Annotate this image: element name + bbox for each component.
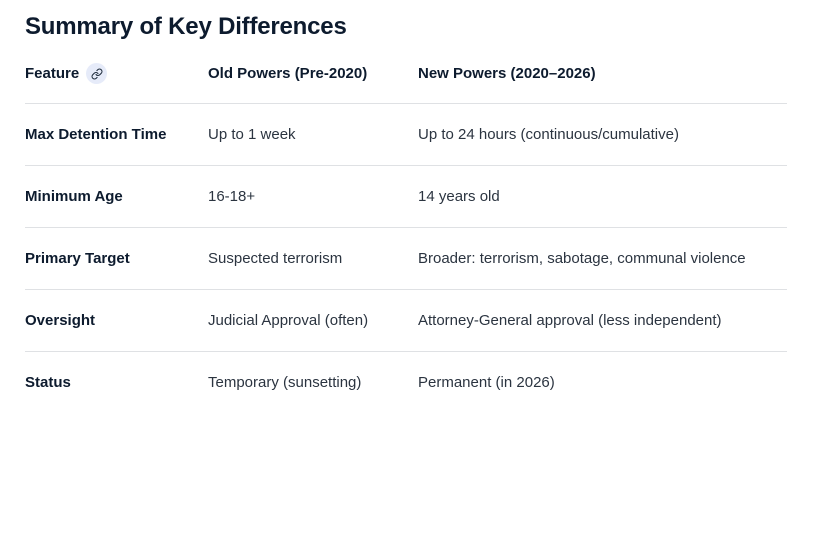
column-header-feature-label: Feature [25,62,79,85]
comparison-table: Feature Old Powers (Pre-2020) New Powers… [25,62,787,413]
table-row: Max Detention Time Up to 1 week Up to 24… [25,104,787,166]
cell-old-oversight: Judicial Approval (often) [208,290,418,352]
cell-new-status: Permanent (in 2026) [418,352,787,414]
column-header-feature: Feature [25,62,208,104]
table-row: Primary Target Suspected terrorism Broad… [25,228,787,290]
column-header-new-powers: New Powers (2020–2026) [418,62,787,104]
cell-old-max-detention-time: Up to 1 week [208,104,418,166]
cell-new-max-detention-time: Up to 24 hours (continuous/cumulative) [418,104,787,166]
cell-new-primary-target: Broader: terrorism, sabotage, communal v… [418,228,787,290]
table-row: Oversight Judicial Approval (often) Atto… [25,290,787,352]
cell-old-primary-target: Suspected terrorism [208,228,418,290]
cell-new-oversight: Attorney-General approval (less independ… [418,290,787,352]
cell-old-minimum-age: 16-18+ [208,166,418,228]
table-body: Max Detention Time Up to 1 week Up to 24… [25,104,787,414]
row-label-max-detention-time: Max Detention Time [25,104,208,166]
row-label-minimum-age: Minimum Age [25,166,208,228]
column-header-old-powers: Old Powers (Pre-2020) [208,62,418,104]
table-row: Minimum Age 16-18+ 14 years old [25,166,787,228]
row-label-primary-target: Primary Target [25,228,208,290]
row-label-status: Status [25,352,208,414]
page-title: Summary of Key Differences [25,12,347,42]
document-page: Summary of Key Differences Feature [0,0,815,542]
table-row: Status Temporary (sunsetting) Permanent … [25,352,787,414]
cell-old-status: Temporary (sunsetting) [208,352,418,414]
link-icon[interactable] [86,63,107,84]
cell-new-minimum-age: 14 years old [418,166,787,228]
feature-header-group: Feature [25,62,107,85]
table-header: Feature Old Powers (Pre-2020) New Powers… [25,62,787,104]
row-label-oversight: Oversight [25,290,208,352]
table-header-row: Feature Old Powers (Pre-2020) New Powers… [25,62,787,104]
